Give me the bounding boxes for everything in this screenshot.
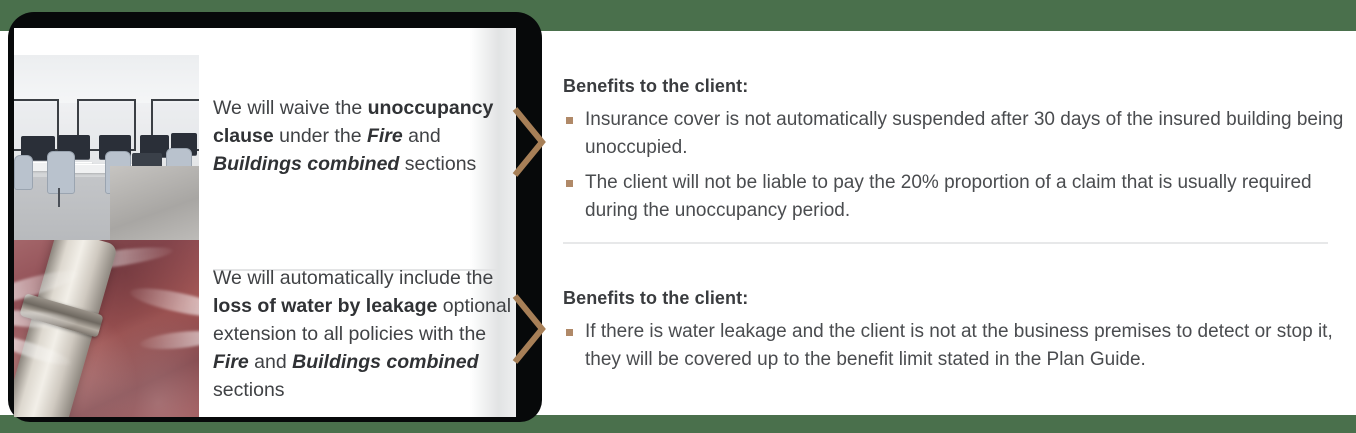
benefits-heading-1: Benefits to the client: xyxy=(563,76,1345,97)
benefits-list-2: If there is water leakage and the client… xyxy=(563,318,1345,374)
content-card: We will waive the unoccupancy clause und… xyxy=(14,28,516,417)
benefits-list-item: Insurance cover is not automatically sus… xyxy=(563,106,1345,162)
benefits-heading-2: Benefits to the client: xyxy=(563,288,1345,309)
card-item-paragraph-1: We will waive the unoccupancy clause und… xyxy=(213,94,513,178)
benefits-list-item-text: If there is water leakage and the client… xyxy=(585,321,1333,370)
panel-divider xyxy=(563,242,1328,244)
chevron-right-icon xyxy=(511,292,547,366)
benefits-list-item-text: The client will not be liable to pay the… xyxy=(585,172,1312,221)
empty-open-plan-office-photo xyxy=(14,55,199,240)
card-item-paragraph-2: We will automatically include the loss o… xyxy=(213,264,513,404)
benefits-block-1: Benefits to the client: Insurance cover … xyxy=(563,76,1345,232)
burst-water-pipe-photo xyxy=(14,240,199,417)
bullet-square-icon xyxy=(566,117,573,124)
benefits-list-1: Insurance cover is not automatically sus… xyxy=(563,106,1345,225)
benefits-list-item-text: Insurance cover is not automatically sus… xyxy=(585,109,1343,158)
card-item-text-1: We will waive the unoccupancy clause und… xyxy=(213,94,513,178)
slide-canvas: We will waive the unoccupancy clause und… xyxy=(0,0,1356,433)
benefits-list-item: If there is water leakage and the client… xyxy=(563,318,1345,374)
benefits-list-item: The client will not be liable to pay the… xyxy=(563,169,1345,225)
bullet-square-icon xyxy=(566,180,573,187)
bullet-square-icon xyxy=(566,329,573,336)
card-item-text-2: We will automatically include the loss o… xyxy=(213,264,513,404)
chevron-right-icon xyxy=(511,105,547,179)
benefits-block-2: Benefits to the client: If there is wate… xyxy=(563,288,1345,381)
